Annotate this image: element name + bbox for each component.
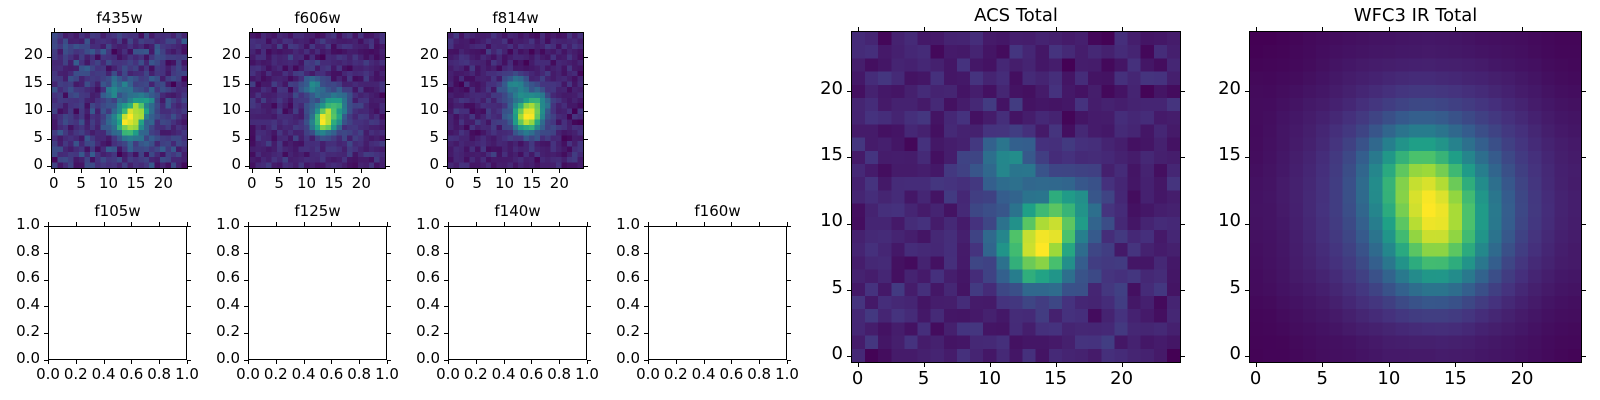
panel-wfc3-ir-total-ytick	[1245, 290, 1249, 291]
panel-f125w-xtick	[359, 222, 360, 226]
panel-f140w-ytick	[444, 306, 448, 307]
panel-f105w-title: f105w	[48, 202, 187, 220]
panel-f606w-ytick	[245, 166, 249, 167]
panel-f160w-ytick-label: 0.4	[570, 297, 640, 312]
panel-acs-total-xtick-label: 5	[900, 370, 947, 388]
panel-f606w-xtick	[252, 28, 253, 32]
panel-f606w-xtick	[334, 28, 335, 32]
panel-wfc3-ir-total-xtick	[1522, 363, 1523, 367]
panel-f125w-xtick	[331, 222, 332, 226]
panel-f435w-xtick	[136, 28, 137, 32]
panel-f160w-xtick	[676, 360, 677, 364]
panel-wfc3-ir-total-xtick-label: 15	[1432, 370, 1479, 388]
panel-f140w-ytick-label: 1.0	[370, 217, 440, 232]
panel-wfc3-ir-total-xtick-label: 10	[1365, 370, 1412, 388]
panel-f814w-ytick-label: 0	[369, 157, 439, 172]
panel-wfc3-ir-total-ytick	[1245, 157, 1249, 158]
panel-f814w-ytick	[584, 166, 588, 167]
panel-f125w-ytick-label: 1.0	[170, 217, 240, 232]
panel-f105w-xtick	[48, 222, 49, 226]
panel-acs-total-xtick	[990, 363, 991, 367]
panel-f105w-ytick-label: 0.4	[0, 297, 40, 312]
panel-f606w-xtick	[334, 169, 335, 173]
panel-f435w-ytick-label: 5	[0, 130, 43, 145]
panel-f160w-ytick	[787, 333, 791, 334]
panel-f125w-ytick	[244, 253, 248, 254]
panel-f140w-xtick	[504, 360, 505, 364]
panel-f140w-xtick	[476, 222, 477, 226]
panel-f140w-xtick	[448, 222, 449, 226]
panel-acs-total-ytick-label: 0	[773, 345, 843, 363]
panel-f125w-xtick	[331, 360, 332, 364]
panel-f140w-xtick	[531, 360, 532, 364]
panel-f105w-ytick	[44, 226, 48, 227]
panel-acs-total-xtick-label: 20	[1098, 370, 1145, 388]
panel-f160w-xtick	[648, 222, 649, 226]
panel-f435w-ytick	[47, 84, 51, 85]
panel-wfc3-ir-total-ytick-label: 15	[1171, 146, 1241, 164]
panel-acs-total-xtick	[1056, 363, 1057, 367]
panel-f105w-ytick-label: 0.0	[0, 351, 40, 366]
panel-acs-total-ytick-label: 15	[773, 146, 843, 164]
panel-acs-total-xtick	[924, 27, 925, 31]
panel-f435w-ytick	[47, 166, 51, 167]
panel-f606w-xtick	[252, 169, 253, 173]
panel-f105w-ytick	[44, 306, 48, 307]
panel-wfc3-ir-total-ytick	[1245, 224, 1249, 225]
panel-f140w-xtick	[559, 360, 560, 364]
panel-acs-total-xtick	[1122, 363, 1123, 367]
panel-f606w-xtick	[279, 28, 280, 32]
panel-f435w-ytick-label: 20	[0, 47, 43, 62]
panel-wfc3-ir-total-xtick	[1389, 363, 1390, 367]
panel-wfc3-ir-total-ytick	[1582, 157, 1586, 158]
panel-f606w-ytick-label: 20	[171, 47, 241, 62]
panel-f435w-ytick-label: 10	[0, 102, 43, 117]
panel-f814w-ytick	[584, 57, 588, 58]
panel-f125w-xtick	[248, 360, 249, 364]
panel-f105w-ytick-label: 0.2	[0, 324, 40, 339]
panel-f105w-ytick-label: 0.8	[0, 244, 40, 259]
panel-f105w-ytick-label: 0.6	[0, 270, 40, 285]
panel-wfc3-ir-total-ytick-label: 0	[1171, 345, 1241, 363]
panel-f140w-axes[interactable]	[448, 226, 587, 360]
panel-f435w-ytick	[47, 57, 51, 58]
panel-wfc3-ir-total-ytick	[1582, 290, 1586, 291]
panel-f140w-ytick-label: 0.8	[370, 244, 440, 259]
panel-f140w-xtick	[531, 222, 532, 226]
panel-f105w-xtick	[131, 360, 132, 364]
panel-f125w-ytick	[244, 306, 248, 307]
panel-f140w-xtick	[448, 360, 449, 364]
panel-wfc3-ir-total-ytick-label: 10	[1171, 212, 1241, 230]
panel-f606w-xtick	[307, 28, 308, 32]
panel-f435w-heatmap	[52, 33, 187, 168]
panel-f140w-ytick-label: 0.6	[370, 270, 440, 285]
panel-f140w-ytick	[444, 226, 448, 227]
panel-f160w-xtick	[731, 222, 732, 226]
panel-f606w-ytick-label: 0	[171, 157, 241, 172]
panel-acs-total-xtick	[990, 27, 991, 31]
panel-f814w-xtick	[559, 169, 560, 173]
panel-wfc3-ir-total-xtick	[1455, 27, 1456, 31]
panel-f606w-ytick	[245, 139, 249, 140]
panel-f606w-ytick-label: 10	[171, 102, 241, 117]
panel-f814w-ytick	[584, 84, 588, 85]
panel-f125w-ytick	[244, 360, 248, 361]
panel-f105w-axes[interactable]	[48, 226, 187, 360]
panel-f125w-ytick-label: 0.2	[170, 324, 240, 339]
panel-f140w-xtick	[504, 222, 505, 226]
panel-f606w-ytick	[245, 84, 249, 85]
panel-f160w-xtick	[759, 222, 760, 226]
panel-f435w-ytick	[47, 111, 51, 112]
panel-f105w-xtick	[104, 360, 105, 364]
panel-f435w-title: f435w	[51, 9, 188, 27]
panel-f814w-ytick-label: 15	[369, 75, 439, 90]
panel-f814w-ytick	[443, 111, 447, 112]
panel-acs-total-ytick	[847, 91, 851, 92]
panel-f606w-ytick-label: 15	[171, 75, 241, 90]
panel-acs-total-xtick-label: 15	[1032, 370, 1079, 388]
panel-acs-total-xtick-label: 0	[834, 370, 881, 388]
panel-wfc3-ir-total-ytick-label: 5	[1171, 279, 1241, 297]
panel-f435w-xtick	[81, 169, 82, 173]
panel-f160w-ytick	[644, 226, 648, 227]
panel-f435w-xtick	[54, 28, 55, 32]
panel-wfc3-ir-total-ytick-label: 20	[1171, 80, 1241, 98]
panel-wfc3-ir-total-ytick	[1582, 224, 1586, 225]
panel-f435w-xtick	[81, 28, 82, 32]
panel-f105w-xtick	[104, 222, 105, 226]
panel-f160w-ytick-label: 0.8	[570, 244, 640, 259]
panel-f105w-xtick-label: 1.0	[168, 367, 207, 382]
panel-f140w-ytick	[444, 360, 448, 361]
panel-f814w-title: f814w	[447, 9, 584, 27]
panel-acs-total-xtick	[1056, 27, 1057, 31]
panel-f160w-xtick	[704, 360, 705, 364]
panel-f125w-ytick	[244, 226, 248, 227]
panel-f160w-ytick	[644, 280, 648, 281]
panel-f435w-ytick-label: 0	[0, 157, 43, 172]
panel-acs-total-heatmap	[852, 32, 1180, 362]
panel-wfc3-ir-total-xtick-label: 5	[1299, 370, 1346, 388]
panel-wfc3-ir-total-xtick-label: 0	[1232, 370, 1279, 388]
panel-wfc3-ir-total-ytick	[1582, 91, 1586, 92]
panel-f814w-ytick-label: 20	[369, 47, 439, 62]
panel-wfc3-ir-total-ytick	[1582, 356, 1586, 357]
panel-f160w-xtick	[648, 360, 649, 364]
panel-f160w-ytick	[644, 253, 648, 254]
panel-f140w-xtick	[559, 222, 560, 226]
panel-f606w-ytick	[245, 111, 249, 112]
panel-f105w-xtick	[131, 222, 132, 226]
panel-f814w-axes[interactable]	[447, 32, 584, 169]
panel-f140w-ytick	[444, 280, 448, 281]
panel-f140w-ytick-label: 0.4	[370, 297, 440, 312]
panel-f814w-xtick	[532, 169, 533, 173]
panel-f435w-xtick	[136, 169, 137, 173]
panel-f160w-ytick	[787, 253, 791, 254]
panel-acs-total-axes[interactable]	[851, 31, 1181, 363]
panel-f814w-ytick	[443, 57, 447, 58]
panel-f125w-xtick	[248, 222, 249, 226]
panel-acs-total-ytick	[847, 356, 851, 357]
panel-f140w-ytick	[444, 253, 448, 254]
panel-f606w-heatmap	[250, 33, 385, 168]
panel-f814w-xtick	[505, 169, 506, 173]
panel-acs-total-xtick	[858, 363, 859, 367]
panel-f160w-ytick	[644, 360, 648, 361]
panel-f140w-xtick	[476, 360, 477, 364]
panel-f125w-title: f125w	[248, 202, 387, 220]
panel-f160w-ytick	[644, 333, 648, 334]
panel-f814w-ytick	[443, 84, 447, 85]
panel-acs-total-ytick	[847, 224, 851, 225]
panel-f105w-ytick	[44, 360, 48, 361]
panel-f606w-xtick	[361, 28, 362, 32]
panel-f606w-xtick	[361, 169, 362, 173]
panel-acs-total-ytick-label: 10	[773, 212, 843, 230]
panel-f140w-title: f140w	[448, 202, 587, 220]
panel-f814w-ytick-label: 5	[369, 130, 439, 145]
panel-f125w-xtick	[276, 360, 277, 364]
panel-wfc3-ir-total-heatmap	[1250, 32, 1581, 362]
panel-f125w-ytick-label: 0.4	[170, 297, 240, 312]
panel-f814w-ytick-label: 10	[369, 102, 439, 117]
panel-f814w-heatmap	[448, 33, 583, 168]
panel-wfc3-ir-total-xtick	[1455, 363, 1456, 367]
panel-f435w-xtick	[163, 28, 164, 32]
panel-f814w-xtick	[450, 169, 451, 173]
panel-f160w-ytick-label: 0.0	[570, 351, 640, 366]
panel-f606w-xtick-label: 20	[342, 176, 381, 191]
panel-f125w-xtick	[304, 360, 305, 364]
panel-wfc3-ir-total-ytick	[1245, 91, 1249, 92]
panel-acs-total-ytick	[847, 290, 851, 291]
panel-wfc3-ir-total-xtick	[1389, 27, 1390, 31]
panel-f160w-ytick-label: 0.6	[570, 270, 640, 285]
panel-f814w-xtick	[505, 28, 506, 32]
panel-f435w-xtick-label: 20	[144, 176, 183, 191]
panel-f140w-ytick-label: 0.2	[370, 324, 440, 339]
panel-f140w-ytick-label: 0.0	[370, 351, 440, 366]
panel-f606w-xtick	[279, 169, 280, 173]
panel-acs-total-ytick-label: 20	[773, 80, 843, 98]
panel-f435w-ytick	[47, 139, 51, 140]
panel-f160w-xtick	[759, 360, 760, 364]
panel-f105w-xtick	[76, 360, 77, 364]
panel-f606w-ytick	[245, 57, 249, 58]
panel-f105w-xtick	[76, 222, 77, 226]
panel-f814w-xtick	[450, 28, 451, 32]
panel-f105w-ytick	[44, 253, 48, 254]
panel-f814w-xtick	[477, 28, 478, 32]
panel-f125w-xtick	[359, 360, 360, 364]
panel-wfc3-ir-total-xtick	[1522, 27, 1523, 31]
panel-f814w-xtick	[477, 169, 478, 173]
panel-wfc3-ir-total-xtick	[1256, 363, 1257, 367]
panel-f606w-axes[interactable]	[249, 32, 386, 169]
panel-f105w-xtick	[48, 360, 49, 364]
panel-f606w-title: f606w	[249, 9, 386, 27]
panel-f435w-xtick	[163, 169, 164, 173]
panel-f125w-ytick-label: 0.8	[170, 244, 240, 259]
panel-f160w-title: f160w	[648, 202, 787, 220]
panel-f160w-ytick-label: 0.2	[570, 324, 640, 339]
panel-wfc3-ir-total-xtick	[1322, 27, 1323, 31]
panel-f814w-ytick	[584, 111, 588, 112]
panel-f105w-ytick-label: 1.0	[0, 217, 40, 232]
panel-wfc3-ir-total-xtick-label: 20	[1499, 370, 1546, 388]
panel-f606w-xtick	[307, 169, 308, 173]
panel-f125w-axes[interactable]	[248, 226, 387, 360]
panel-acs-total-xtick	[858, 27, 859, 31]
panel-acs-total-ytick	[847, 157, 851, 158]
panel-f435w-xtick	[54, 169, 55, 173]
panel-f105w-ytick	[44, 333, 48, 334]
panel-f160w-ytick	[644, 306, 648, 307]
panel-f125w-ytick-label: 0.6	[170, 270, 240, 285]
panel-f814w-xtick-label: 20	[540, 176, 579, 191]
panel-f160w-ytick-label: 1.0	[570, 217, 640, 232]
panel-f125w-ytick-label: 0.0	[170, 351, 240, 366]
panel-f105w-ytick	[44, 280, 48, 281]
panel-f125w-xtick-label: 1.0	[368, 367, 407, 382]
panel-wfc3-ir-total-ytick	[1245, 356, 1249, 357]
panel-f160w-xtick	[676, 222, 677, 226]
panel-f125w-xtick	[276, 222, 277, 226]
panel-acs-total-xtick-label: 10	[966, 370, 1013, 388]
panel-f105w-xtick	[159, 360, 160, 364]
panel-f125w-ytick	[244, 333, 248, 334]
panel-wfc3-ir-total-title: WFC3 IR Total	[1249, 5, 1582, 26]
panel-f814w-ytick	[443, 166, 447, 167]
panel-f435w-ytick-label: 15	[0, 75, 43, 90]
panel-f814w-xtick	[532, 28, 533, 32]
panel-f160w-axes[interactable]	[648, 226, 787, 360]
panel-f814w-xtick	[559, 28, 560, 32]
panel-f125w-ytick	[244, 280, 248, 281]
panel-f140w-ytick	[444, 333, 448, 334]
panel-acs-total-title: ACS Total	[851, 5, 1181, 26]
panel-f160w-ytick	[787, 306, 791, 307]
panel-f105w-xtick	[159, 222, 160, 226]
panel-f606w-ytick-label: 5	[171, 130, 241, 145]
panel-f435w-xtick	[109, 169, 110, 173]
panel-acs-total-ytick-label: 5	[773, 279, 843, 297]
panel-f435w-axes[interactable]	[51, 32, 188, 169]
panel-acs-total-xtick	[924, 363, 925, 367]
panel-wfc3-ir-total-axes[interactable]	[1249, 31, 1582, 363]
panel-f435w-xtick	[109, 28, 110, 32]
panel-wfc3-ir-total-xtick	[1322, 363, 1323, 367]
panel-wfc3-ir-total-xtick	[1256, 27, 1257, 31]
panel-f814w-ytick	[584, 139, 588, 140]
panel-f814w-ytick	[443, 139, 447, 140]
panel-f160w-xtick-label: 1.0	[768, 367, 807, 382]
panel-f125w-xtick	[304, 222, 305, 226]
panel-f160w-xtick	[731, 360, 732, 364]
panel-f160w-xtick	[704, 222, 705, 226]
panel-f140w-xtick-label: 1.0	[568, 367, 607, 382]
panel-acs-total-xtick	[1122, 27, 1123, 31]
